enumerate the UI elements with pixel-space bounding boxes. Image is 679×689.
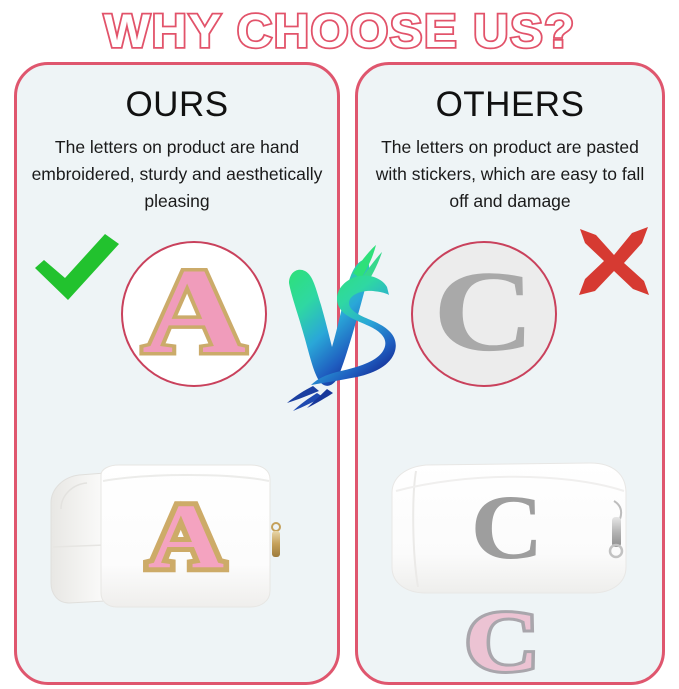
chenille-patch-letter: A xyxy=(142,251,246,373)
patch-circle-ours: A xyxy=(121,241,267,387)
cross-icon xyxy=(576,225,652,297)
panel-ours-heading: OURS xyxy=(17,85,337,125)
versus-icon xyxy=(283,243,401,423)
bag-sticker-letter: C xyxy=(470,476,543,578)
panel-others-description: The letters on product are pasted with s… xyxy=(358,134,662,215)
fallen-patch: C xyxy=(454,598,550,684)
check-icon xyxy=(31,232,123,304)
page-title-text: WHY CHOOSE US? xyxy=(104,3,576,58)
product-bag-ours: A xyxy=(39,451,324,621)
bag-patch-letter: A xyxy=(148,486,224,587)
sticker-letter: C xyxy=(433,254,535,370)
fallen-patch-letter: C xyxy=(465,598,540,684)
page-title: WHY CHOOSE US? xyxy=(0,4,679,56)
panel-others: OTHERS The letters on product are pasted… xyxy=(355,62,665,685)
panel-ours-description: The letters on product are hand embroide… xyxy=(17,134,337,215)
patch-circle-others: C xyxy=(411,241,557,387)
comparison-infographic: WHY CHOOSE US? OURS The letters on produ… xyxy=(0,0,679,689)
panel-others-heading: OTHERS xyxy=(358,85,662,125)
product-bag-others: C xyxy=(382,451,644,603)
